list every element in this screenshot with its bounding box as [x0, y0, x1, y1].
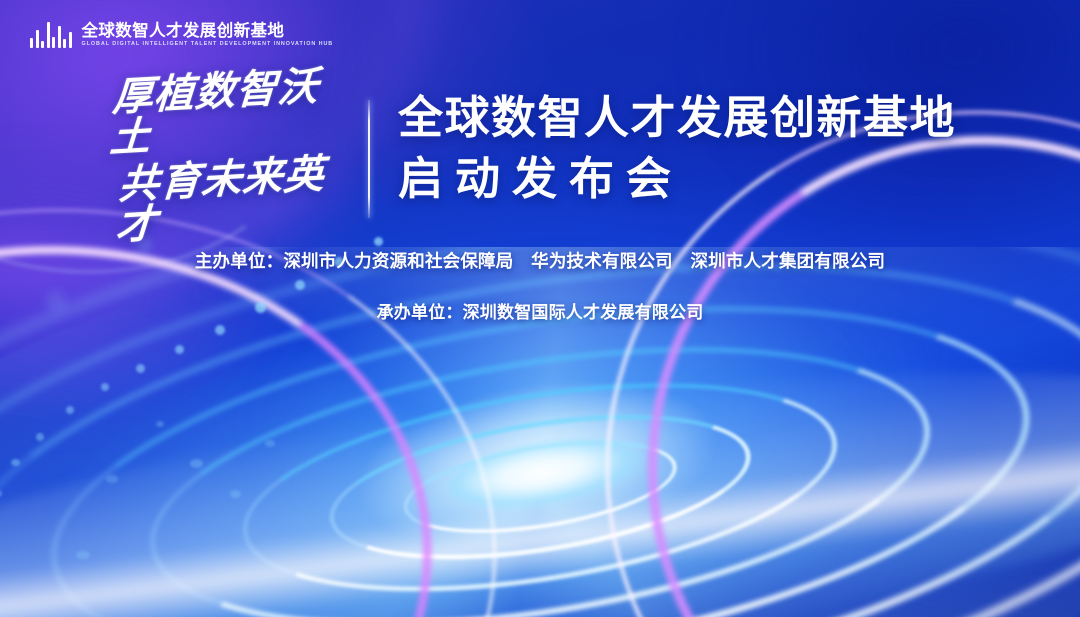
brand-name-cn: 全球数智人才发展创新基地 [82, 23, 334, 40]
vortex-ring-6 [228, 348, 851, 617]
brand-name-en: GLOBAL DIGITAL INTELLIGENT TALENT DEVELO… [82, 42, 334, 47]
event-title-block: 全球数智人才发展创新基地 启动发布会 [398, 92, 956, 205]
host-organizations-line: 主办单位：深圳市人力资源和社会保障局 华为技术有限公司 深圳市人才集团有限公司 [0, 248, 1080, 273]
event-title-line-2: 启动发布会 [398, 153, 956, 205]
vertical-divider [368, 100, 370, 218]
brand-logo-text: 全球数智人才发展创新基地 GLOBAL DIGITAL INTELLIGENT … [82, 23, 334, 47]
calligraphy-line-1: 厚植数智沃土 [109, 65, 361, 160]
vortex-light-deck [0, 312, 1080, 617]
calligraphy-line-2: 共育未来英才 [115, 152, 367, 247]
vortex-ring-5 [130, 300, 949, 617]
event-title-line-1: 全球数智人才发展创新基地 [398, 92, 956, 144]
co-organizer-line: 承办单位：深圳数智国际人才发展有限公司 [0, 298, 1080, 323]
hero-section: 厚植数智沃土 共育未来英才 全球数智人才发展创新基地 启动发布会 [0, 88, 1080, 238]
organizer-credits: 主办单位：深圳市人力资源和社会保障局 华为技术有限公司 深圳市人才集团有限公司 … [0, 248, 1080, 323]
event-backdrop-stage: 全球数智人才发展创新基地 GLOBAL DIGITAL INTELLIGENT … [0, 0, 1080, 617]
vortex-core-glow [442, 426, 650, 519]
calligraphy-slogan: 厚植数智沃土 共育未来英才 [112, 90, 357, 222]
vortex-ring-8 [397, 425, 682, 549]
vortex-ring-7 [319, 390, 760, 585]
equalizer-bars-logo-icon [30, 22, 72, 48]
brand-logo-lockup: 全球数智人才发展创新基地 GLOBAL DIGITAL INTELLIGENT … [30, 22, 333, 48]
